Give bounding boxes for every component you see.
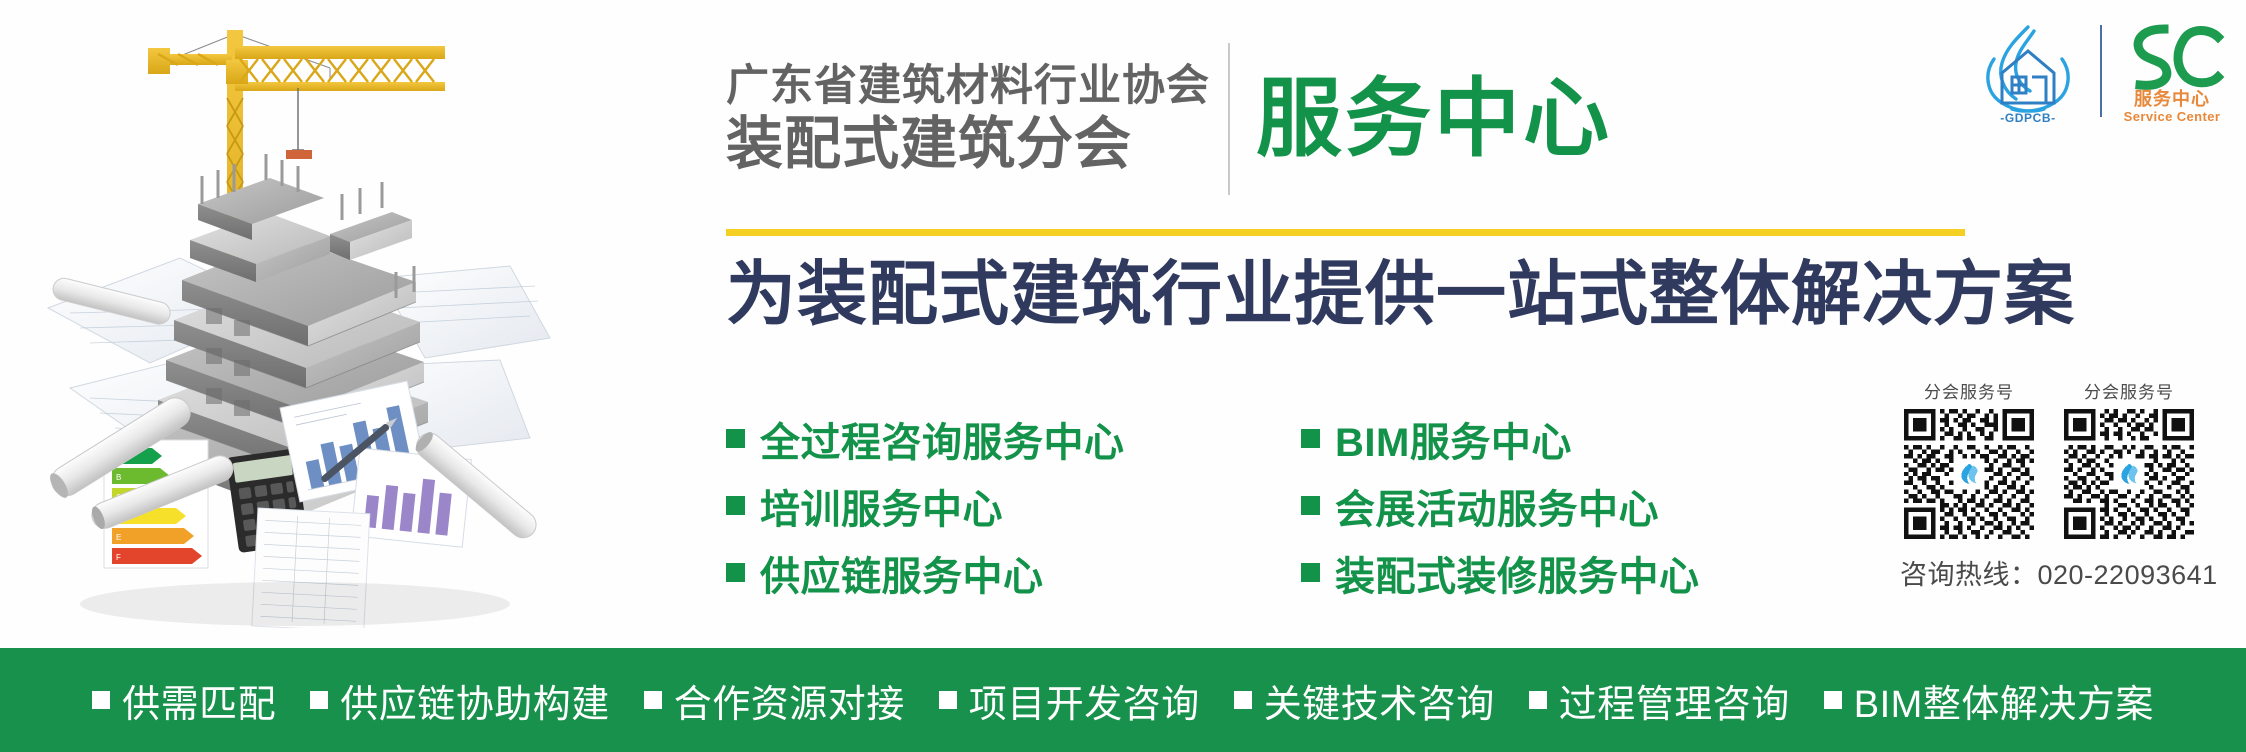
- list-item[interactable]: 会展活动服务中心: [1301, 477, 1806, 535]
- logo-block: -GDPCB- 服务中心 Service Center: [1966, 12, 2226, 130]
- square-bullet-icon: [1234, 691, 1252, 709]
- qr-row: 分会服务号: [1900, 378, 2218, 539]
- list-item[interactable]: 装配式装修服务中心: [1301, 544, 1806, 602]
- title-separator: [1228, 43, 1230, 195]
- svg-text:B: B: [116, 473, 121, 482]
- bar-label: 合作资源对接: [674, 673, 905, 728]
- square-bullet-icon: [644, 691, 662, 709]
- square-bullet-icon: [1301, 563, 1320, 582]
- square-bullet-icon: [1301, 429, 1320, 448]
- bar-label: 过程管理咨询: [1559, 673, 1790, 728]
- qr-code-image[interactable]: [2064, 409, 2194, 539]
- square-bullet-icon: [310, 691, 328, 709]
- square-bullet-icon: [1301, 496, 1320, 515]
- square-bullet-icon: [939, 691, 957, 709]
- association-branch-name: 装配式建筑分会: [726, 114, 1210, 174]
- qr-cell[interactable]: 分会服务号: [1900, 378, 2038, 539]
- bar-label: 项目开发咨询: [969, 673, 1200, 728]
- list-item[interactable]: 全过程咨询服务中心: [726, 410, 1301, 468]
- sc-logo-chinese: 服务中心: [2134, 88, 2210, 109]
- service-center-title: 服务中心: [1256, 76, 1612, 162]
- service-label: 供应链服务中心: [760, 544, 1044, 602]
- hotline-text: 咨询热线：020-22093641: [1900, 553, 2218, 592]
- list-item[interactable]: 供应链服务中心: [726, 544, 1301, 602]
- qr-caption: 分会服务号: [2060, 378, 2198, 403]
- sc-service-center-logo: 服务中心 Service Center: [2118, 15, 2226, 127]
- bar-item[interactable]: 供需匹配: [92, 673, 276, 728]
- square-bullet-icon: [92, 691, 110, 709]
- association-names: 广东省建筑材料行业协会 装配式建筑分会: [726, 64, 1224, 174]
- yellow-divider-rule: [726, 229, 1965, 236]
- service-label: 培训服务中心: [760, 477, 1003, 535]
- association-name-line1: 广东省建筑材料行业协会: [726, 64, 1210, 110]
- bar-label: 关键技术咨询: [1264, 673, 1495, 728]
- square-bullet-icon: [726, 563, 745, 582]
- square-bullet-icon: [1529, 691, 1547, 709]
- service-center-list: 全过程咨询服务中心 BIM服务中心 培训服务中心 会展活动服务中心 供应链服务中…: [726, 405, 1806, 606]
- square-bullet-icon: [726, 429, 745, 448]
- bar-item[interactable]: 合作资源对接: [644, 673, 905, 728]
- bar-item[interactable]: 关键技术咨询: [1234, 673, 1495, 728]
- list-item[interactable]: BIM服务中心: [1301, 410, 1806, 468]
- logo-divider: [2100, 25, 2102, 117]
- list-item[interactable]: 培训服务中心: [726, 477, 1301, 535]
- gdpcb-house-flame-logo: -GDPCB-: [1972, 15, 2084, 127]
- svg-text:F: F: [116, 553, 121, 562]
- bar-item[interactable]: 项目开发咨询: [939, 673, 1200, 728]
- square-bullet-icon: [1824, 691, 1842, 709]
- qr-caption: 分会服务号: [1900, 378, 2038, 403]
- bar-label: BIM整体解决方案: [1854, 673, 2154, 728]
- qr-code-image[interactable]: [1904, 409, 2034, 539]
- service-label: 全过程咨询服务中心: [760, 410, 1125, 468]
- promotional-banner: ABC DEF: [0, 0, 2246, 752]
- bar-label: 供需匹配: [122, 673, 276, 728]
- qr-cell[interactable]: 分会服务号: [2060, 378, 2198, 539]
- sc-logo-english: Service Center: [2124, 109, 2221, 124]
- bar-label: 供应链协助构建: [340, 673, 610, 728]
- title-row: 广东省建筑材料行业协会 装配式建筑分会 服务中心: [726, 28, 1966, 210]
- bar-item[interactable]: 供应链协助构建: [310, 673, 610, 728]
- bar-item[interactable]: BIM整体解决方案: [1824, 673, 2154, 728]
- service-label: 会展活动服务中心: [1335, 477, 1659, 535]
- bottom-service-bar: 供需匹配 供应链协助构建 合作资源对接 项目开发咨询 关键技术咨询 过程管理咨询…: [0, 648, 2246, 752]
- service-label: BIM服务中心: [1335, 410, 1572, 468]
- hero-illustration: ABC DEF: [30, 8, 680, 628]
- svg-text:E: E: [116, 533, 121, 542]
- qr-contact-block: 分会服务号: [1900, 378, 2218, 592]
- service-label: 装配式装修服务中心: [1335, 544, 1700, 602]
- page-title: 为装配式建筑行业提供一站式整体解决方案: [726, 252, 2026, 337]
- bar-item[interactable]: 过程管理咨询: [1529, 673, 1790, 728]
- gdpcb-wordmark: -GDPCB-: [2000, 111, 2056, 125]
- square-bullet-icon: [726, 496, 745, 515]
